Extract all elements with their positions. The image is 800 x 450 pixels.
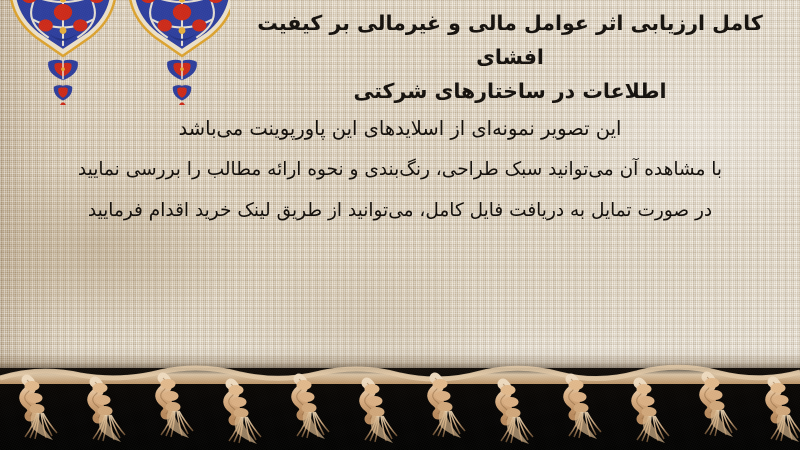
tassel-row [25, 377, 800, 444]
title-line-1: کامل ارزیابی اثر عوامل مالی و غیرمالی بر… [220, 6, 800, 74]
slide-body: این تصویر نمونه‌ای از اسلایدهای این پاور… [0, 108, 800, 231]
title-line-2: اطلاعات در ساختارهای شرکتی [220, 74, 800, 108]
body-line-2: با مشاهده آن می‌توانید سبک طراحی، رنگ‌بن… [0, 149, 800, 190]
slide-title: کامل ارزیابی اثر عوامل مالی و غیرمالی بر… [0, 6, 800, 108]
body-line-1: این تصویر نمونه‌ای از اسلایدهای این پاور… [0, 108, 800, 149]
knotted-tassel-fringe-icon [0, 340, 800, 450]
slide-canvas: کامل ارزیابی اثر عوامل مالی و غیرمالی بر… [0, 0, 800, 450]
body-line-3: در صورت تمایل به دریافت فایل کامل، می‌تو… [0, 190, 800, 231]
fringe-group [0, 340, 800, 450]
